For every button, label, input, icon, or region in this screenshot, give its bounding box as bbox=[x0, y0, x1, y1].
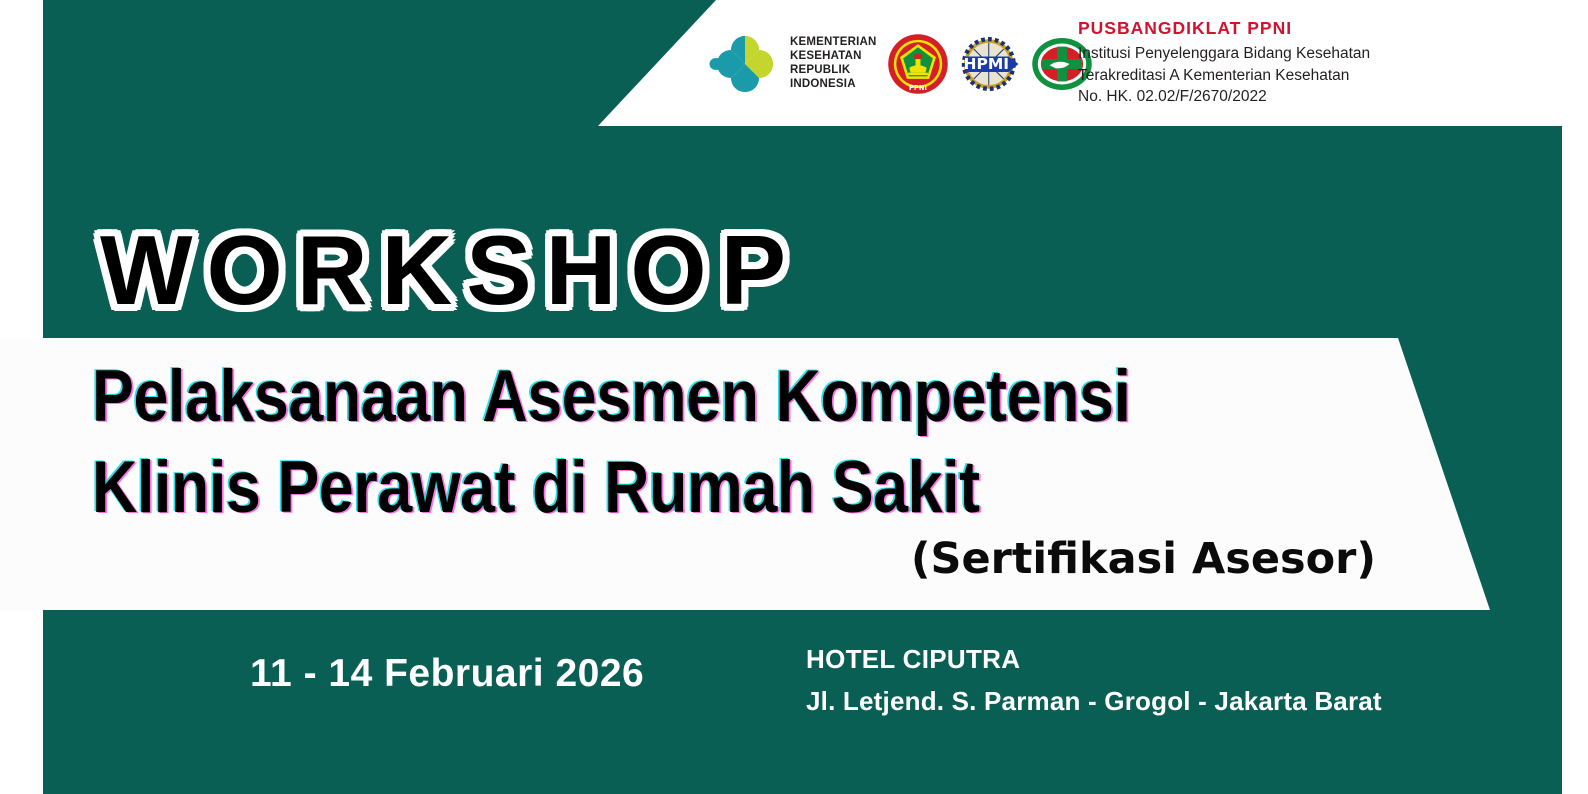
org-sub-line-1: Institusi Penyelenggara Bidang Kesehatan bbox=[1078, 45, 1370, 62]
org-sub-line-2: Terakreditasi A Kementerian Kesehatan bbox=[1078, 67, 1349, 84]
logo-row: KEMENTERIAN KESEHATAN REPUBLIK INDONESIA bbox=[708, 20, 1093, 108]
header-band: KEMENTERIAN KESEHATAN REPUBLIK INDONESIA bbox=[598, 0, 1588, 126]
title-line-2: Klinis Perawat di Rumah Sakit bbox=[92, 443, 1244, 534]
header-text-block: PUSBANGDIKLAT PPNI Institusi Penyelengga… bbox=[1068, 18, 1588, 108]
title-panel: Pelaksanaan Asesmen Kompetensi Klinis Pe… bbox=[0, 338, 1500, 610]
event-date: 11 - 14 Februari 2026 bbox=[250, 652, 644, 696]
title-line-1: Pelaksanaan Asesmen Kompetensi bbox=[92, 352, 1244, 443]
kemenkes-text-line-1: KEMENTERIAN bbox=[790, 36, 877, 48]
svg-text:HPMI: HPMI bbox=[963, 55, 1009, 73]
subtitle-sertifikasi: (Sertifikasi Asesor) bbox=[911, 534, 1376, 584]
kemenkes-text-line-2: KESEHATAN bbox=[790, 50, 862, 62]
venue-block: HOTEL CIPUTRA Jl. Letjend. S. Parman - G… bbox=[806, 643, 1382, 719]
kemenkes-mark-icon bbox=[708, 27, 782, 101]
title-lines: Pelaksanaan Asesmen Kompetensi Klinis Pe… bbox=[92, 352, 1432, 533]
org-subtitle: Institusi Penyelenggara Bidang Kesehatan… bbox=[1078, 43, 1588, 108]
venue-name: HOTEL CIPUTRA bbox=[806, 643, 1382, 677]
venue-address: Jl. Letjend. S. Parman - Grogol - Jakart… bbox=[806, 685, 1382, 719]
kemenkes-logo-text: KEMENTERIAN KESEHATAN REPUBLIK INDONESIA bbox=[790, 36, 877, 91]
workshop-eyebrow: WORKSHOP bbox=[100, 214, 800, 327]
header-inner: KEMENTERIAN KESEHATAN REPUBLIK INDONESIA bbox=[598, 0, 1588, 126]
poster-root: KEMENTERIAN KESEHATAN REPUBLIK INDONESIA bbox=[0, 0, 1588, 794]
kemenkes-text-line-4: INDONESIA bbox=[790, 78, 856, 90]
org-title: PUSBANGDIKLAT PPNI bbox=[1078, 18, 1588, 40]
hpmi-logo-icon: HPMI bbox=[959, 33, 1021, 95]
kemenkes-logo: KEMENTERIAN KESEHATAN REPUBLIK INDONESIA bbox=[708, 22, 877, 106]
svg-text:PPNI: PPNI bbox=[908, 84, 926, 92]
ppni-logo-icon: PPNI bbox=[887, 33, 949, 95]
org-sub-line-3: No. HK. 02.02/F/2670/2022 bbox=[1078, 88, 1267, 105]
kemenkes-text-line-3: REPUBLIK bbox=[790, 64, 850, 76]
